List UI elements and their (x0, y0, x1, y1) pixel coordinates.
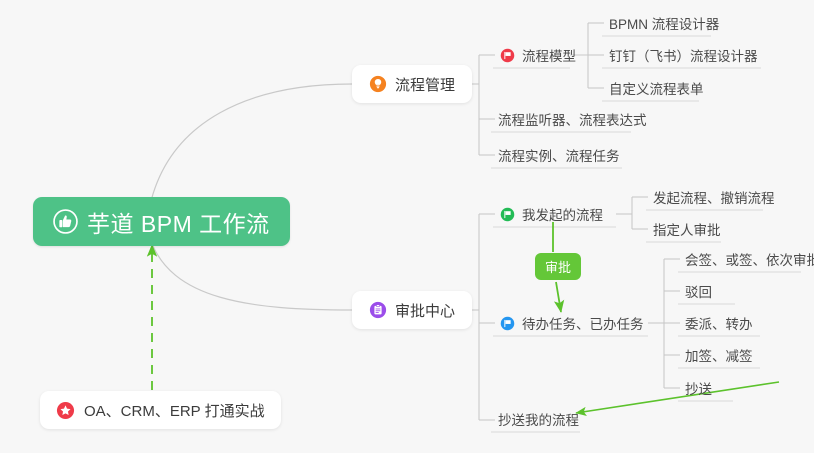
node-my-initiated-process-label: 我发起的流程 (522, 204, 603, 224)
flag-icon (500, 48, 515, 63)
node-countersign-orsign-sequential-label: 会签、或签、依次审批 (685, 249, 814, 269)
node-assignee-approval-label: 指定人审批 (653, 219, 721, 239)
node-todo-done-task[interactable]: 待办任务、已办任务 (495, 310, 648, 336)
node-process-model-label: 流程模型 (522, 45, 576, 65)
node-delegate-transfer[interactable]: 委派、转办 (680, 310, 757, 336)
node-reject-label: 驳回 (685, 281, 712, 301)
flag-icon (500, 316, 515, 331)
node-listener-expression[interactable]: 流程监听器、流程表达式 (493, 106, 651, 132)
thumbs-up-icon (53, 209, 78, 234)
node-delegate-transfer-label: 委派、转办 (685, 313, 753, 333)
node-my-initiated-process[interactable]: 我发起的流程 (495, 201, 607, 227)
node-reject[interactable]: 驳回 (680, 278, 716, 304)
node-start-cancel-process-label: 发起流程、撤销流程 (653, 187, 775, 207)
edges-todo-done-task (648, 259, 680, 388)
node-bpmn-designer-label: BPMN 流程设计器 (609, 13, 719, 33)
lightbulb-icon (369, 75, 387, 93)
clipboard-icon (369, 301, 387, 319)
node-carbon-copy[interactable]: 抄送 (680, 375, 716, 401)
node-process-model[interactable]: 流程模型 (495, 42, 580, 68)
star-icon (56, 401, 75, 420)
node-todo-done-task-label: 待办任务、已办任务 (522, 313, 644, 333)
node-custom-process-form[interactable]: 自定义流程表单 (604, 75, 708, 101)
node-assignee-approval[interactable]: 指定人审批 (648, 216, 725, 242)
node-cc-to-me-process[interactable]: 抄送我的流程 (493, 406, 583, 432)
node-countersign-orsign-sequential[interactable]: 会签、或签、依次审批 (680, 246, 814, 272)
approval-tag-label: 审批 (545, 257, 571, 276)
integration-note-label: OA、CRM、ERP 打通实战 (84, 400, 265, 421)
node-carbon-copy-label: 抄送 (685, 378, 712, 398)
node-add-remove-sign[interactable]: 加签、减签 (680, 342, 757, 368)
node-instance-task-label: 流程实例、流程任务 (498, 145, 620, 165)
root-node-label: 芋道 BPM 工作流 (87, 205, 270, 239)
branch-process-management-label: 流程管理 (395, 74, 455, 95)
node-listener-expression-label: 流程监听器、流程表达式 (498, 109, 647, 129)
mindmap-canvas: 芋道 BPM 工作流 流程管理 流程模型 BPMN 流程设计器 钉钉（飞书 (0, 0, 814, 453)
integration-note[interactable]: OA、CRM、ERP 打通实战 (40, 391, 281, 429)
node-cc-to-me-process-label: 抄送我的流程 (498, 409, 579, 429)
node-start-cancel-process[interactable]: 发起流程、撤销流程 (648, 184, 779, 210)
node-add-remove-sign-label: 加签、减签 (685, 345, 753, 365)
edges-my-initiated-process (616, 197, 648, 229)
branch-approval-center-label: 审批中心 (395, 300, 455, 321)
branch-approval-center[interactable]: 审批中心 (352, 291, 472, 329)
root-node[interactable]: 芋道 BPM 工作流 (33, 197, 290, 246)
node-instance-task[interactable]: 流程实例、流程任务 (493, 142, 624, 168)
node-dingtalk-feishu-designer-label: 钉钉（飞书）流程设计器 (609, 45, 758, 65)
node-bpmn-designer[interactable]: BPMN 流程设计器 (604, 10, 723, 36)
flag-icon (500, 207, 515, 222)
node-dingtalk-feishu-designer[interactable]: 钉钉（飞书）流程设计器 (604, 42, 762, 68)
node-custom-process-form-label: 自定义流程表单 (609, 78, 704, 98)
approval-tag[interactable]: 审批 (535, 253, 581, 280)
branch-process-management[interactable]: 流程管理 (352, 65, 472, 103)
